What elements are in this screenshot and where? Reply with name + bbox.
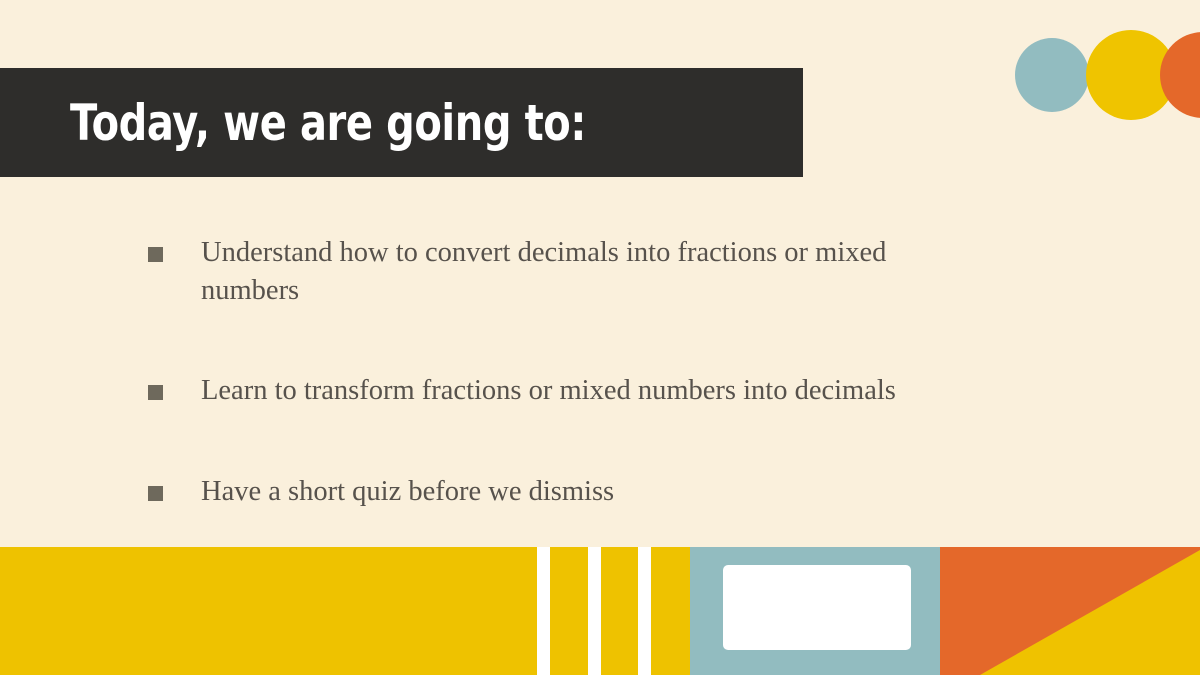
- presentation-slide: Today, we are going to: Understand how t…: [0, 0, 1200, 675]
- slide-title-bar: Today, we are going to:: [0, 68, 803, 177]
- list-item-label: Learn to transform fractions or mixed nu…: [201, 372, 896, 410]
- band-white-stripe: [588, 547, 601, 675]
- square-bullet-icon: [148, 247, 163, 262]
- list-item: Have a short quiz before we dismiss: [148, 473, 1028, 511]
- band-yellow-triangle-icon: [940, 547, 1200, 675]
- bottom-decorative-band: [0, 547, 1200, 675]
- decorative-circles-group: [1000, 0, 1200, 190]
- square-bullet-icon: [148, 486, 163, 501]
- band-yellow-block: [0, 547, 690, 675]
- list-item-label: Have a short quiz before we dismiss: [201, 473, 614, 511]
- list-item: Learn to transform fractions or mixed nu…: [148, 372, 1028, 410]
- band-white-stripe: [537, 547, 550, 675]
- orange-circle-icon: [1160, 32, 1200, 118]
- list-item-label: Understand how to convert decimals into …: [201, 234, 961, 310]
- list-item: Understand how to convert decimals into …: [148, 234, 1028, 310]
- page-title: Today, we are going to:: [70, 98, 586, 148]
- bullet-list: Understand how to convert decimals into …: [148, 234, 1028, 511]
- square-bullet-icon: [148, 385, 163, 400]
- band-white-card: [723, 565, 911, 650]
- teal-circle-icon: [1015, 38, 1089, 112]
- band-white-stripe: [638, 547, 651, 675]
